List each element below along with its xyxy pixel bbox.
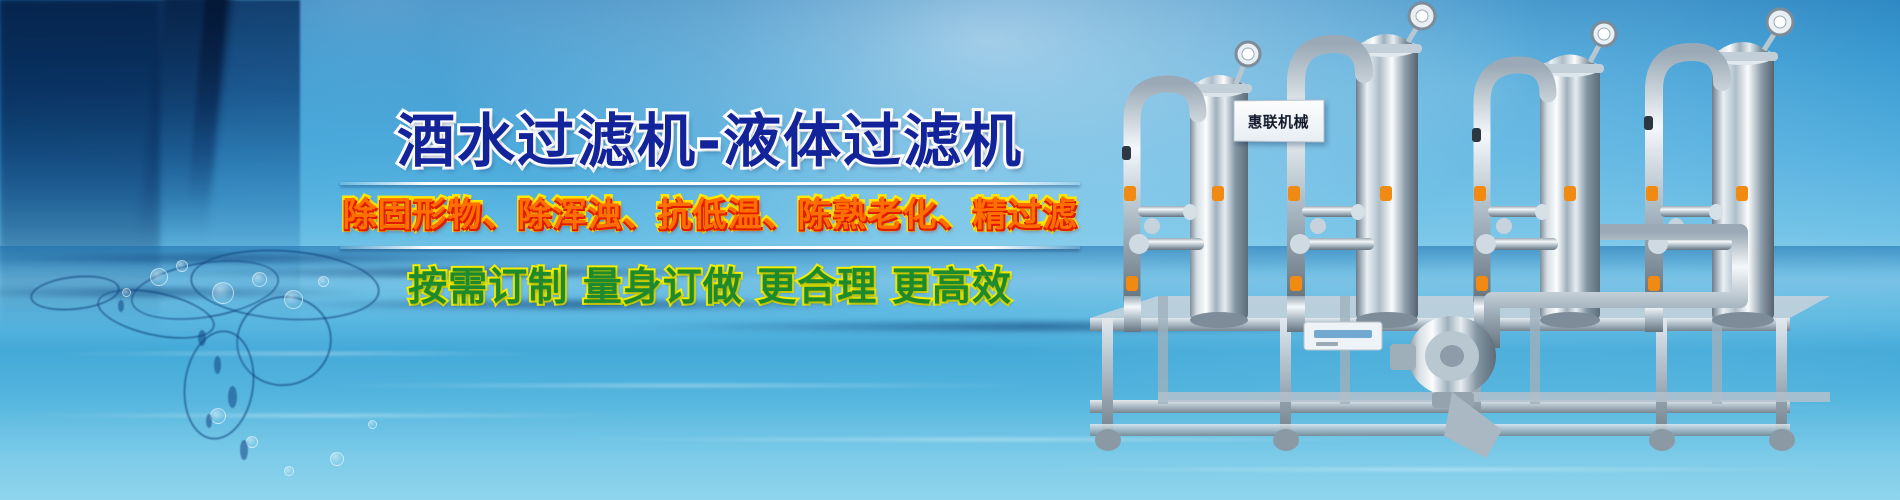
water-bubble — [252, 272, 267, 287]
divider-bottom — [340, 246, 1080, 249]
divider-top — [340, 182, 1080, 185]
banner-subtitle: 除固形物、除浑浊、抗低温、陈熟老化、精过滤 — [330, 196, 1090, 235]
water-bubble — [284, 466, 294, 476]
water-droplet — [214, 356, 221, 374]
water-ripple — [300, 384, 1060, 387]
banner-tagline: 按需订制 量身订做 更合理 更高效 — [330, 267, 1090, 310]
water-droplet — [240, 440, 248, 460]
water-bubble — [368, 420, 377, 429]
machine-brand-sign-label: 惠联机械 — [1248, 110, 1309, 131]
filter-vessel-3 — [1472, 22, 1616, 332]
machine-control-box — [1304, 322, 1382, 350]
banner-title: 酒水过滤机-液体过滤机 — [330, 112, 1090, 170]
water-bubble — [150, 268, 168, 286]
water-droplet — [206, 414, 212, 428]
water-droplet — [228, 386, 237, 408]
water-bubble — [318, 276, 329, 287]
water-bubble — [212, 282, 234, 304]
water-bubble — [176, 260, 188, 272]
filter-vessel-2 — [1286, 3, 1435, 332]
water-bubble — [122, 288, 131, 297]
promo-banner: 惠联机械 酒水过滤机-液体过滤机 除固形物、除浑浊、抗低温、陈熟老化、精过滤 按… — [0, 0, 1900, 500]
water-droplet — [118, 300, 124, 312]
water-ripple — [0, 414, 640, 417]
machine-brand-sign: 惠联机械 — [1234, 100, 1325, 143]
water-bubble — [284, 290, 303, 309]
water-bubble — [330, 452, 344, 466]
banner-copy-block: 酒水过滤机-液体过滤机 除固形物、除浑浊、抗低温、陈熟老化、精过滤 按需订制 量… — [330, 112, 1090, 310]
filter-vessel-4 — [1644, 9, 1793, 332]
water-bubble — [210, 408, 226, 424]
filter-vessel-1 — [1122, 42, 1260, 332]
filtration-machine-illustration — [1040, 0, 1900, 500]
water-droplet — [198, 330, 206, 346]
